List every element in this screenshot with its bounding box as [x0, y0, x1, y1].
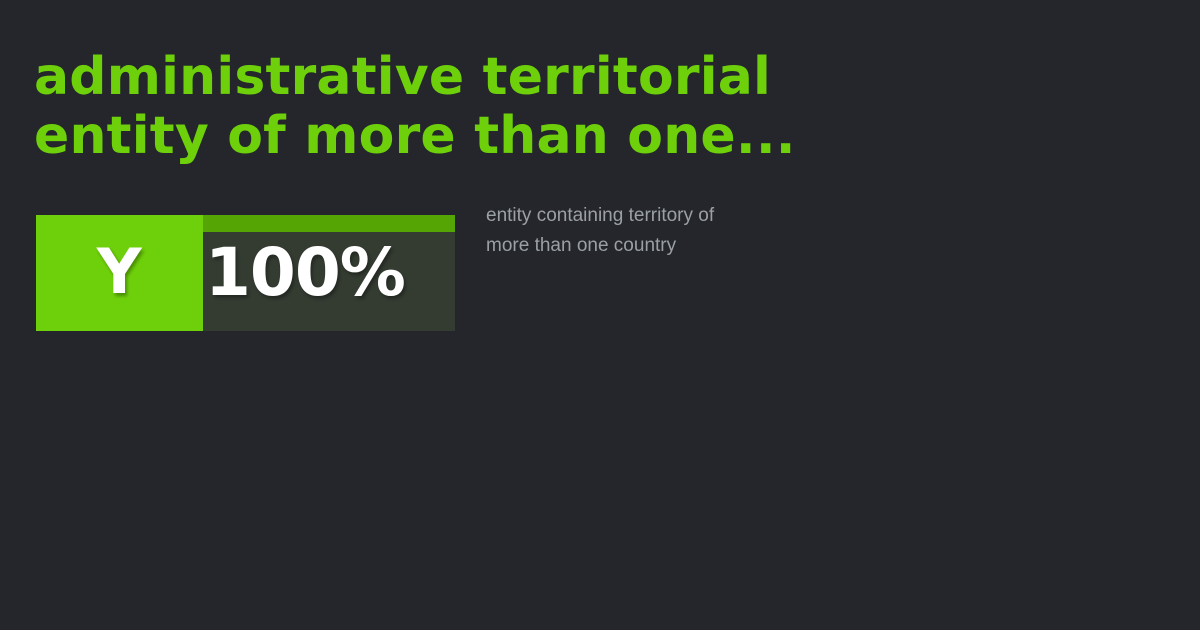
- flag-badge: Y: [36, 215, 203, 331]
- property-description: entity containing territory of more than…: [486, 201, 776, 261]
- page-title: administrative territorial entity of mor…: [34, 48, 1074, 166]
- coverage-stat-block: Y 100%: [36, 215, 455, 331]
- coverage-meter: 100%: [203, 215, 455, 331]
- property-card: administrative territorial entity of mor…: [0, 0, 1200, 630]
- flag-badge-letter: Y: [97, 241, 142, 303]
- coverage-percent-label: 100%: [203, 215, 455, 331]
